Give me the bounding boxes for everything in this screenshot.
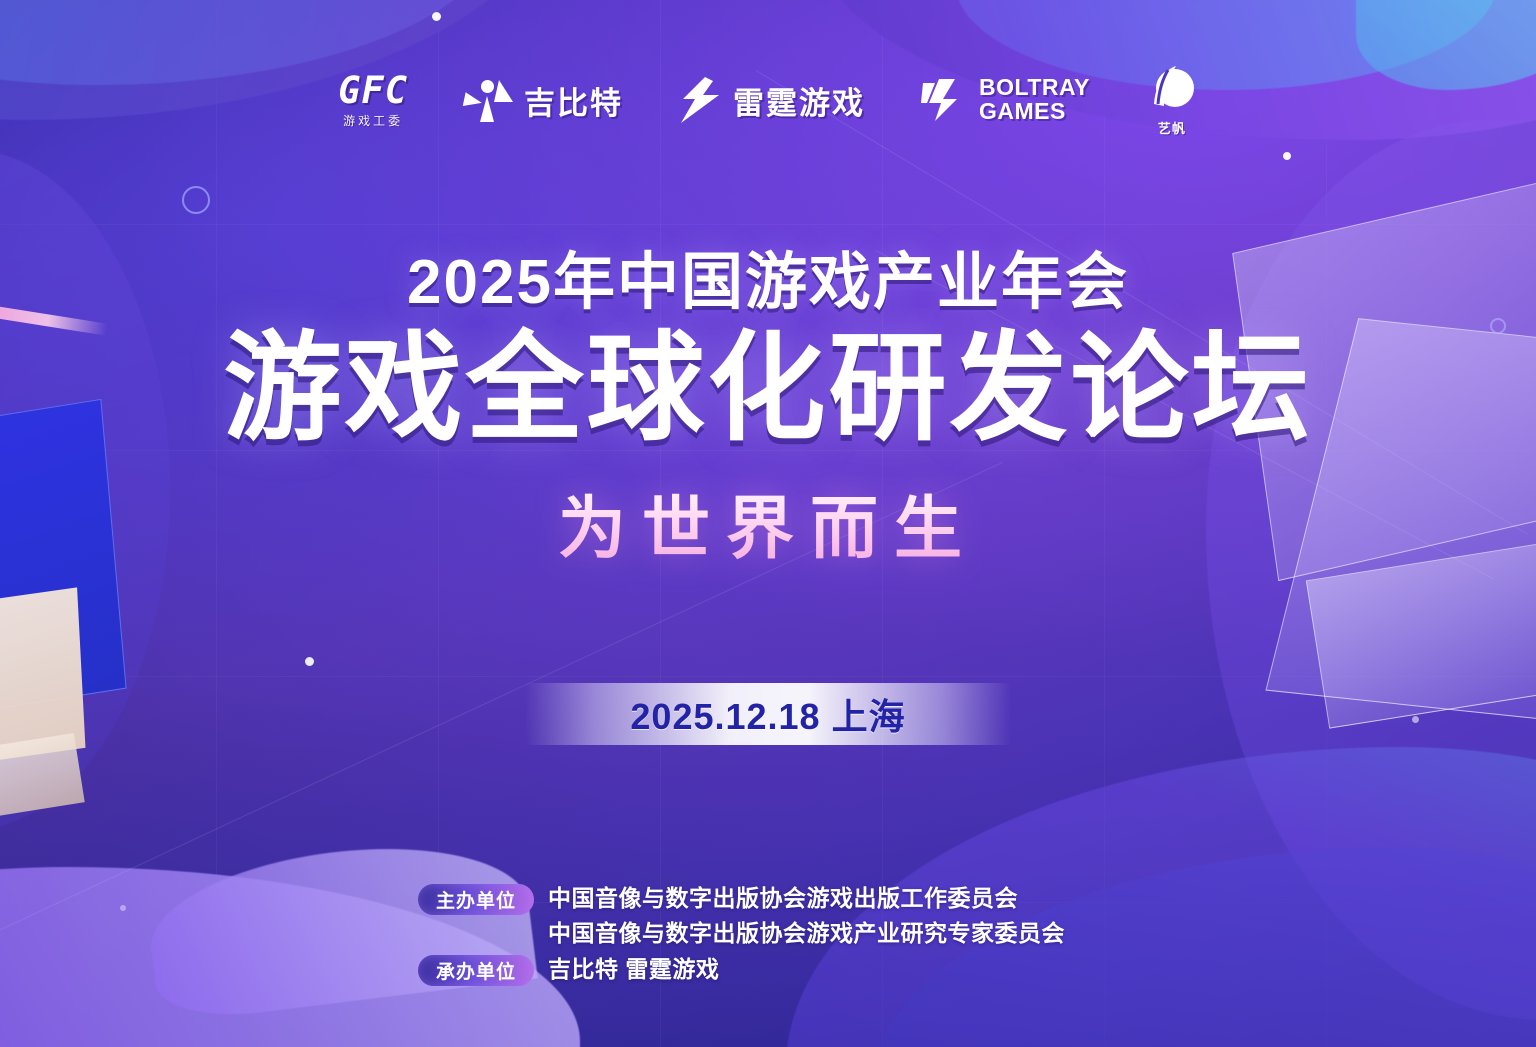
credits-block: 主办单位 中国音像与数字出版协会游戏出版工作委员会 中国音像与数字出版协会游戏产… <box>418 884 1065 992</box>
date-location-text: 2025.12.18 上海 <box>630 688 905 740</box>
gfc-sublabel: 游戏工委 <box>343 112 403 129</box>
boltray-wordmark: BOLTRAY GAMES <box>979 76 1090 124</box>
host-body: 中国音像与数字出版协会游戏出版工作委员会 中国音像与数字出版协会游戏产业研究专家… <box>548 884 1065 949</box>
boltray-line-2: GAMES <box>979 100 1090 124</box>
jibite-wordmark: 吉比特 <box>524 78 623 123</box>
organizer-badge: 承办单位 <box>418 955 534 986</box>
boltray-line-1: BOLTRAY <box>979 76 1090 100</box>
organizer-body: 吉比特 雷霆游戏 <box>548 955 719 984</box>
forum-title: 游戏全球化研发论坛 <box>0 328 1536 451</box>
host-row: 主办单位 中国音像与数字出版协会游戏出版工作委员会 中国音像与数字出版协会游戏产… <box>418 884 1065 949</box>
poster-root: GFC 游戏工委 吉比特 雷霆游戏 <box>0 0 1536 1047</box>
date-location-bar: 2025.12.18 上海 <box>525 683 1011 745</box>
poster-content: GFC 游戏工委 吉比特 雷霆游戏 <box>0 0 1536 1047</box>
jibite-logo: 吉比特 <box>464 76 623 124</box>
organizer-row: 承办单位 吉比特 雷霆游戏 <box>418 955 1065 986</box>
yifan-sublabel: 艺帆 <box>1158 118 1186 137</box>
organizer-line-1: 吉比特 雷霆游戏 <box>548 955 719 984</box>
event-title: 2025年中国游戏产业年会 <box>0 252 1536 314</box>
sponsor-logo-strip: GFC 游戏工委 吉比特 雷霆游戏 <box>0 60 1536 140</box>
leiting-wordmark: 雷霆游戏 <box>733 78 865 123</box>
slogan-text: 为世界而生 <box>0 473 1536 572</box>
headline-block: 2025年中国游戏产业年会 游戏全球化研发论坛 为世界而生 <box>0 252 1536 572</box>
yifan-logo: 艺帆 <box>1146 64 1198 137</box>
jibite-figure-icon <box>464 76 512 124</box>
lightning-bolt-icon <box>679 77 721 123</box>
gfc-logo: GFC 游戏工委 <box>338 72 408 129</box>
host-line-1: 中国音像与数字出版协会游戏出版工作委员会 <box>548 884 1065 913</box>
crescent-sail-icon <box>1146 64 1198 116</box>
boltray-bolt-icon <box>921 77 967 123</box>
boltray-logo: BOLTRAY GAMES <box>921 76 1090 124</box>
leiting-logo: 雷霆游戏 <box>679 77 865 123</box>
host-line-2: 中国音像与数字出版协会游戏产业研究专家委员会 <box>548 919 1065 948</box>
gfc-wordmark: GFC <box>338 72 408 109</box>
host-badge: 主办单位 <box>418 884 534 915</box>
